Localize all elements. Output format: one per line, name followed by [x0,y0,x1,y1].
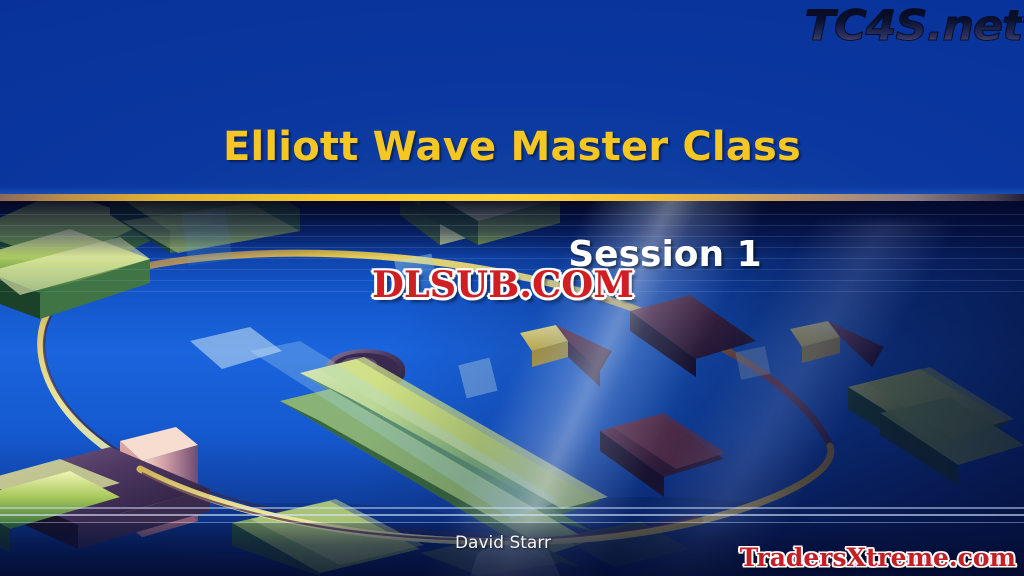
presenter-name-label: David Starr [455,533,551,553]
presentation-slide: Elliott Wave Master Class Session 1 Davi… [0,0,1024,576]
watermark-dlsub: DLSUB.COM [372,264,634,306]
slide-title: Elliott Wave Master Class [0,124,1024,170]
gold-divider-bar [0,194,1024,201]
watermark-tc4s: TC4S.net [804,1,1022,50]
watermark-tradersxtreme: TradersXtreme.com [740,543,1016,572]
horizontal-scanlines-bottom [0,501,1024,535]
